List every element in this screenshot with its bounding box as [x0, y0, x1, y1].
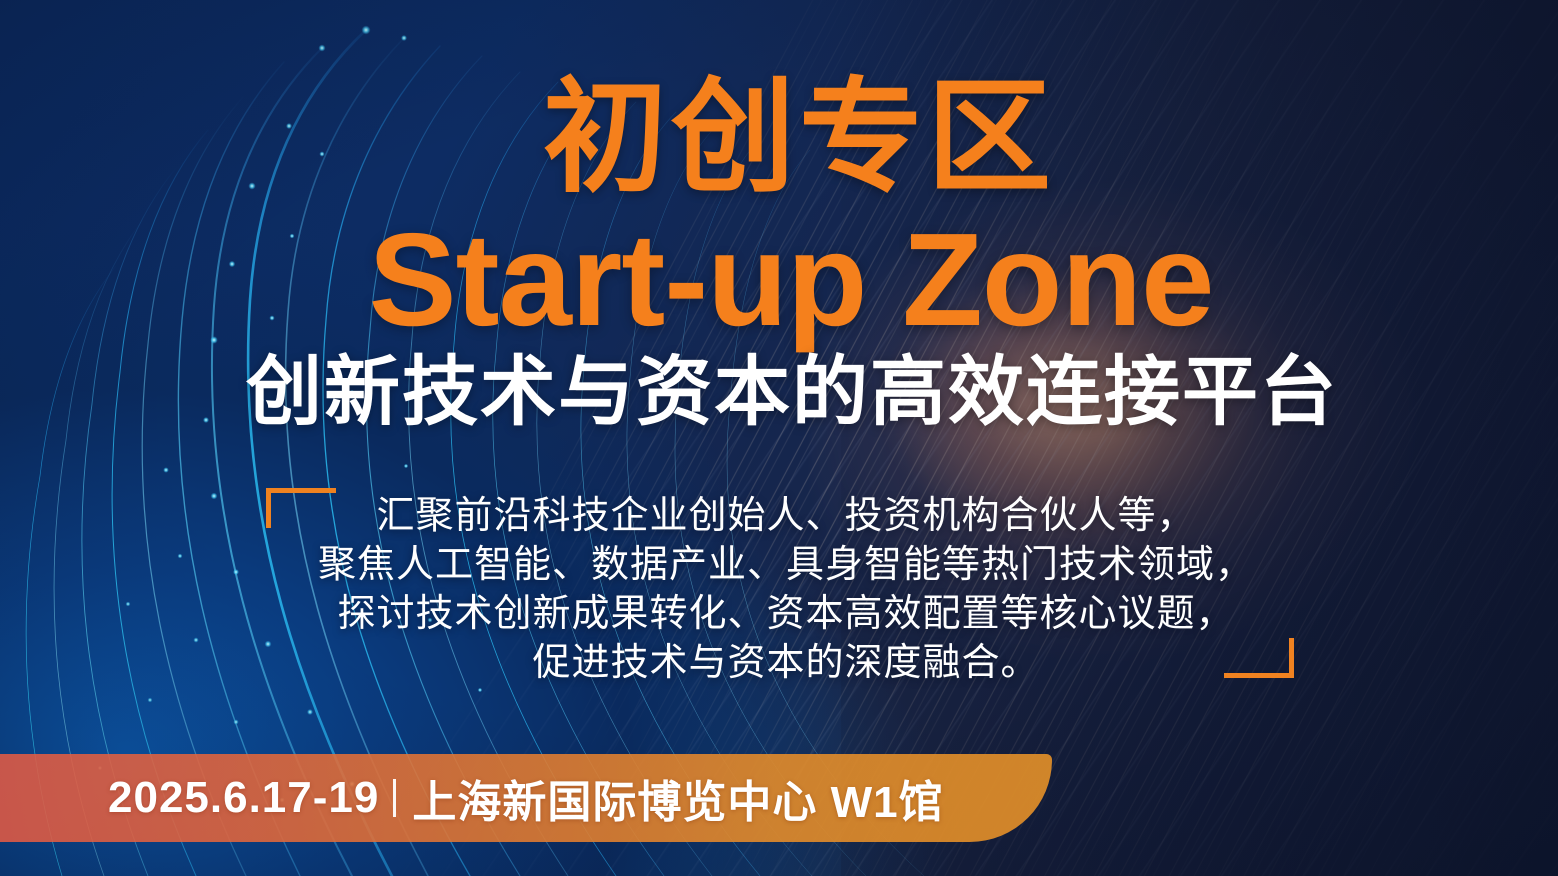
title-english: Start-up Zone: [0, 214, 1558, 346]
description-line-2: 聚焦人工智能、数据产业、具身智能等热门技术领域，: [286, 541, 1286, 590]
bracket-bottom-right-icon: [1224, 638, 1294, 678]
startup-zone-banner: 初创专区 Start-up Zone 创新技术与资本的高效连接平台 汇聚前沿科技…: [0, 0, 1558, 876]
bracket-bottom-right-vertical: [1289, 638, 1294, 678]
event-date: 2025.6.17-19: [108, 773, 379, 823]
description-line-3: 探讨技术创新成果转化、资本高效配置等核心议题，: [286, 590, 1286, 639]
event-venue: 上海新国际博览中心 W1馆: [412, 766, 943, 830]
event-info-bar: 2025.6.17-19 上海新国际博览中心 W1馆: [0, 754, 1052, 842]
subtitle: 创新技术与资本的高效连接平台: [0, 352, 1558, 434]
bracket-bottom-right-horizontal: [1224, 673, 1294, 678]
description-line-4: 促进技术与资本的深度融合。: [286, 639, 1286, 688]
description-line-1: 汇聚前沿科技企业创始人、投资机构合伙人等，: [286, 492, 1286, 541]
event-info-text: 2025.6.17-19 上海新国际博览中心 W1馆: [108, 766, 944, 830]
bracket-top-left-vertical: [266, 488, 271, 528]
banner-content: 初创专区 Start-up Zone 创新技术与资本的高效连接平台 汇聚前沿科技…: [0, 0, 1558, 876]
title-chinese: 初创专区: [0, 76, 1558, 200]
description-paragraph: 汇聚前沿科技企业创始人、投资机构合伙人等， 聚焦人工智能、数据产业、具身智能等热…: [286, 492, 1286, 688]
event-separator-icon: [393, 779, 396, 817]
